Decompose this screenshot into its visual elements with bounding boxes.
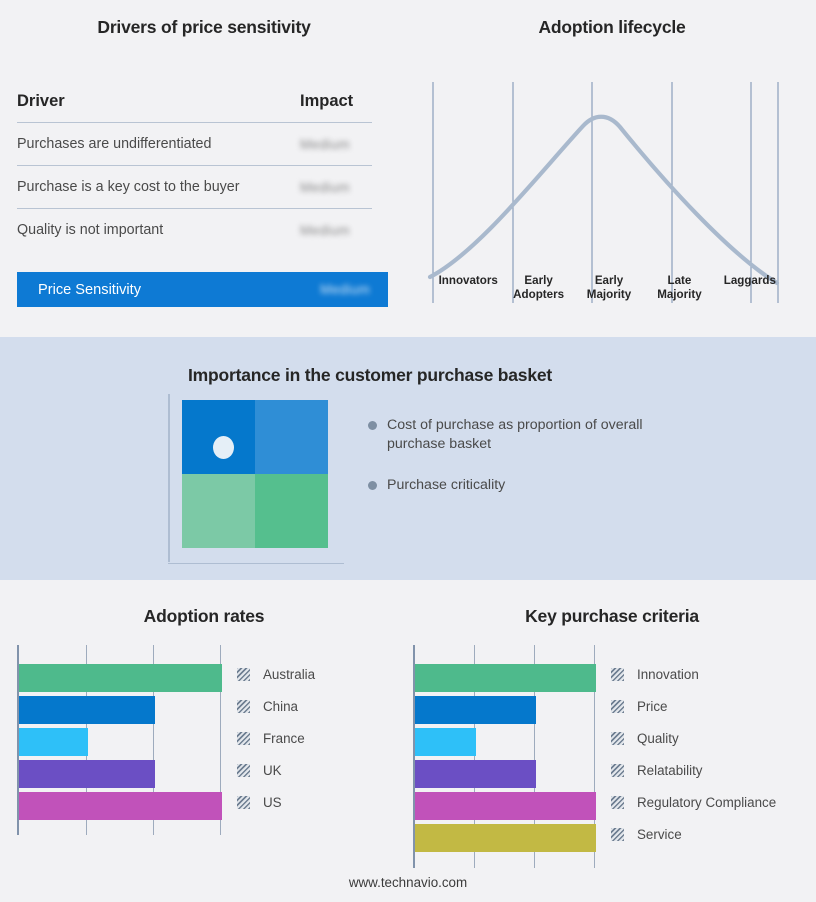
legend-label: Australia xyxy=(263,667,315,682)
drivers-title: Drivers of price sensitivity xyxy=(0,17,408,38)
hatch-swatch-icon xyxy=(237,796,250,809)
key-purchase-criteria-legend: Innovation Price Quality Relatability Re… xyxy=(611,658,776,850)
legend-item-china: China xyxy=(237,690,315,722)
quadrant-cell-bottom-left xyxy=(182,474,255,548)
hatch-swatch-icon xyxy=(611,732,624,745)
bar-quality xyxy=(415,728,476,756)
driver-label: Quality is not important xyxy=(17,222,163,238)
legend-item-france: France xyxy=(237,722,315,754)
bullet-icon xyxy=(368,481,377,490)
quadrant-x-axis xyxy=(168,563,344,565)
hatch-swatch-icon xyxy=(237,732,250,745)
lifecycle-segment-labels: Innovators Early Adopters Early Majority… xyxy=(433,274,785,301)
legend-label: Service xyxy=(637,827,682,842)
bullet-icon xyxy=(368,421,377,430)
adoption-rates-plot xyxy=(17,645,222,835)
legend-label: UK xyxy=(263,763,282,778)
adoption-rates-legend: Australia China France UK US xyxy=(237,658,315,818)
legend-label: Innovation xyxy=(637,667,699,682)
column-header-impact: Impact xyxy=(300,92,372,111)
legend-label: Quality xyxy=(637,731,679,746)
price-sensitivity-impact-redacted: Medium xyxy=(320,282,370,297)
key-purchase-criteria-panel: Key purchase criteria Innovation xyxy=(408,580,816,902)
quadrant-matrix-chart xyxy=(168,392,348,564)
bar-relatability xyxy=(415,760,536,788)
driver-label: Purchases are undifferentiated xyxy=(17,136,211,152)
legend-item-us: US xyxy=(237,786,315,818)
legend-item-service: Service xyxy=(611,818,776,850)
legend-item: Purchase criticality xyxy=(368,476,668,495)
legend-item: Cost of purchase as proportion of overal… xyxy=(368,416,668,454)
table-row: Purchase is a key cost to the buyer Medi… xyxy=(17,166,372,209)
lifecycle-segment-laggards: Laggards xyxy=(715,274,785,301)
hatch-swatch-icon xyxy=(611,668,624,681)
lifecycle-segment-early-majority: Early Majority xyxy=(574,274,644,301)
legend-item-quality: Quality xyxy=(611,722,776,754)
adoption-rates-title: Adoption rates xyxy=(0,606,408,627)
adoption-rates-panel: Adoption rates Australia China xyxy=(0,580,408,902)
hatch-swatch-icon xyxy=(611,796,624,809)
hatch-swatch-icon xyxy=(237,700,250,713)
price-sensitivity-label: Price Sensitivity xyxy=(38,282,141,298)
bar-service xyxy=(415,824,596,852)
quadrant-cell-bottom-right xyxy=(255,474,328,548)
bar-china xyxy=(19,696,155,724)
impact-value-redacted: Medium xyxy=(300,223,372,238)
legend-label: Cost of purchase as proportion of overal… xyxy=(387,416,668,454)
hatch-swatch-icon xyxy=(611,700,624,713)
impact-value-redacted: Medium xyxy=(300,180,372,195)
legend-label: China xyxy=(263,699,298,714)
lifecycle-segment-innovators: Innovators xyxy=(433,274,503,301)
legend-label: US xyxy=(263,795,282,810)
bar-australia xyxy=(19,664,222,692)
hatch-swatch-icon xyxy=(611,764,624,777)
adoption-lifecycle-chart xyxy=(408,0,816,310)
legend-item-uk: UK xyxy=(237,754,315,786)
bar-regulatory-compliance xyxy=(415,792,596,820)
quadrant-cell-top-right xyxy=(255,400,328,474)
bar-innovation xyxy=(415,664,596,692)
hatch-swatch-icon xyxy=(237,668,250,681)
driver-label: Purchase is a key cost to the buyer xyxy=(17,179,240,195)
legend-label: France xyxy=(263,731,305,746)
legend-item-relatability: Relatability xyxy=(611,754,776,786)
quadrant-y-axis xyxy=(168,394,170,562)
table-row: Purchases are undifferentiated Medium xyxy=(17,123,372,166)
legend-label: Regulatory Compliance xyxy=(637,795,776,810)
purchase-basket-legend: Cost of purchase as proportion of overal… xyxy=(368,416,668,517)
top-section: Drivers of price sensitivity Driver Impa… xyxy=(0,0,816,337)
bar-series xyxy=(19,664,222,824)
legend-label: Purchase criticality xyxy=(387,476,505,495)
legend-label: Price xyxy=(637,699,668,714)
table-header-row: Driver Impact xyxy=(17,92,372,123)
legend-item-regulatory-compliance: Regulatory Compliance xyxy=(611,786,776,818)
legend-item-australia: Australia xyxy=(237,658,315,690)
legend-item-price: Price xyxy=(611,690,776,722)
bar-series xyxy=(415,664,596,856)
bar-us xyxy=(19,792,222,820)
bar-price xyxy=(415,696,536,724)
column-header-driver: Driver xyxy=(17,92,65,111)
hatch-swatch-icon xyxy=(237,764,250,777)
lifecycle-segment-early-adopters: Early Adopters xyxy=(503,274,573,301)
key-purchase-criteria-title: Key purchase criteria xyxy=(408,606,816,627)
key-purchase-criteria-plot xyxy=(413,645,600,868)
bar-uk xyxy=(19,760,155,788)
hatch-swatch-icon xyxy=(611,828,624,841)
lifecycle-segment-late-majority: Late Majority xyxy=(644,274,714,301)
drivers-panel: Drivers of price sensitivity Driver Impa… xyxy=(0,0,408,337)
bar-france xyxy=(19,728,88,756)
adoption-lifecycle-panel: Adoption lifecycle Innovators Early Adop… xyxy=(408,0,816,337)
table-row: Quality is not important Medium xyxy=(17,209,372,251)
footer-url: www.technavio.com xyxy=(0,875,816,890)
quadrant-grid xyxy=(182,400,328,548)
purchase-basket-title: Importance in the customer purchase bask… xyxy=(0,365,740,386)
legend-item-innovation: Innovation xyxy=(611,658,776,690)
price-sensitivity-summary-row: Price Sensitivity Medium xyxy=(17,272,388,307)
quadrant-position-marker xyxy=(213,436,234,459)
impact-value-redacted: Medium xyxy=(300,137,372,152)
adoption-bell-curve xyxy=(430,117,777,283)
legend-label: Relatability xyxy=(637,763,703,778)
drivers-table: Driver Impact Purchases are undifferenti… xyxy=(17,92,372,251)
bottom-section: Adoption rates Australia China xyxy=(0,580,816,902)
